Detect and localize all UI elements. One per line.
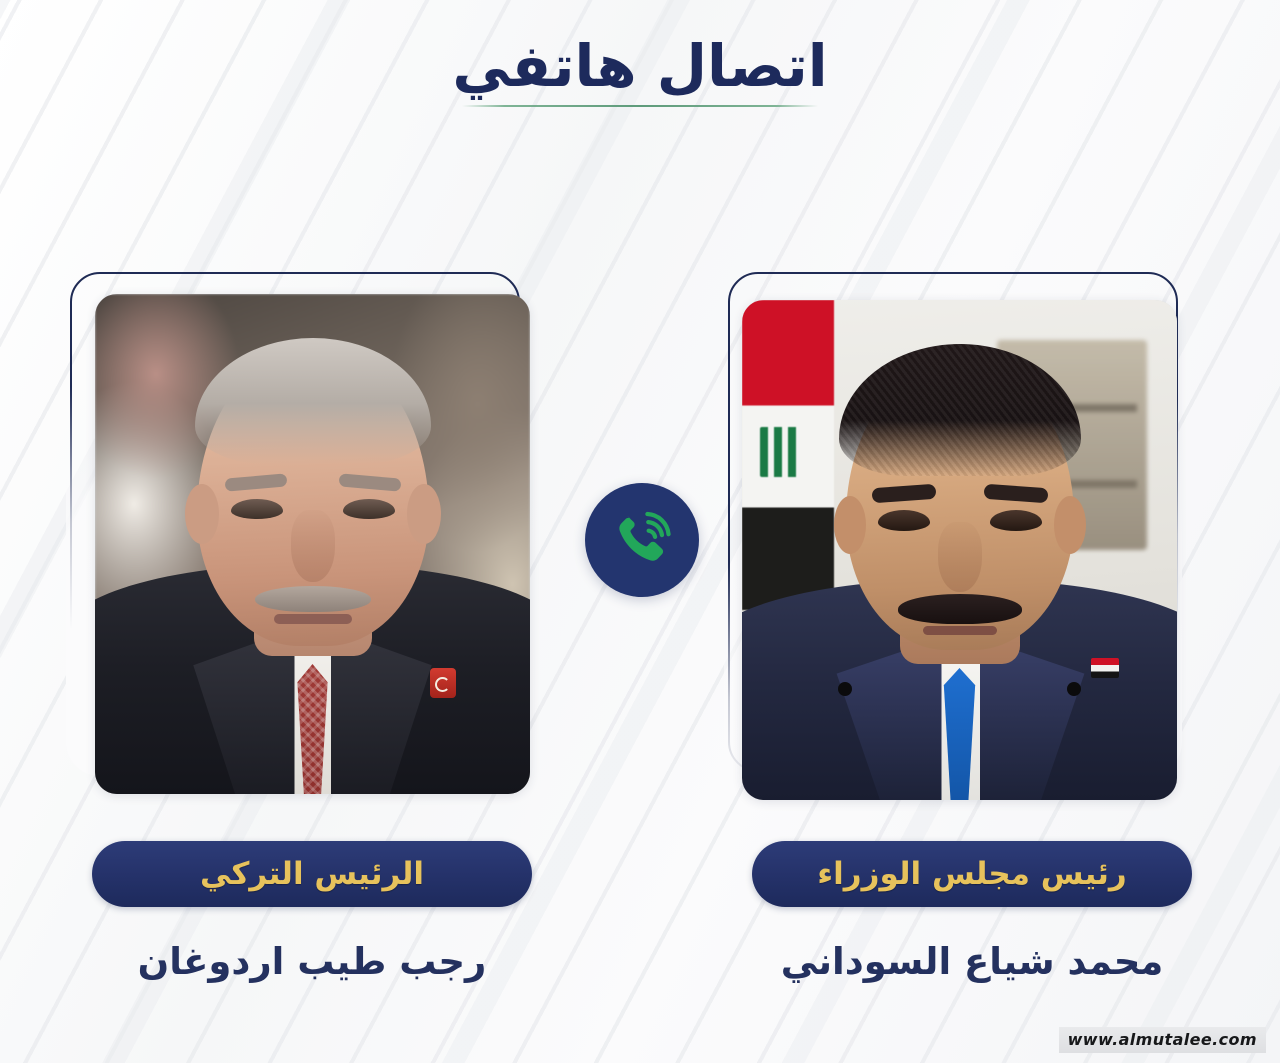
eye-right-shape-right [990,510,1042,531]
portrait-artwork-right [742,300,1177,800]
moustache-shape-right [898,594,1022,624]
lapel-microphone-right-icon [1067,682,1081,696]
eye-right-shape-left [343,499,395,519]
lapel-microphone-left-icon [838,682,852,696]
phone-call-icon [585,483,699,597]
site-watermark: www.almutalee.com [1059,1027,1266,1053]
person-name-left: رجب طيب اردوغان [77,940,547,983]
portrait-artwork-left [95,294,530,794]
person-card-right [722,272,1192,817]
portrait-photo-erdogan [95,294,530,794]
role-badge-left-label: الرئيس التركي [200,856,424,892]
role-badge-right-label: رئيس مجلس الوزراء [817,856,1126,892]
eye-left-shape-left [231,499,283,519]
page-title-text: اتصال هاتفي [452,36,827,97]
ear-left-shape-left [185,484,219,544]
page-title: اتصال هاتفي [0,36,1280,107]
portrait-photo-sudani [742,300,1177,800]
role-badge-left: الرئيس التركي [92,841,532,907]
poster-stage: اتصال هاتفي [0,0,1280,1063]
role-badge-right: رئيس مجلس الوزراء [752,841,1192,907]
mouth-shape-right [923,626,997,635]
mouth-shape-left [274,614,352,624]
ear-right-shape-right [1054,496,1086,554]
turkish-flag-pin-icon [430,668,456,698]
title-underline-rule [462,105,818,107]
nose-shape-right [938,522,982,592]
ear-right-shape-left [407,484,441,544]
ear-left-shape-right [834,496,866,554]
iraqi-flag-icon [742,300,834,610]
eye-left-shape-right [878,510,930,531]
iraqi-flag-pin-icon [1091,658,1119,678]
person-card-left [70,272,540,817]
nose-shape-left [291,510,335,582]
person-name-right: محمد شياع السوداني [737,940,1207,983]
moustache-shape-left [255,586,371,612]
